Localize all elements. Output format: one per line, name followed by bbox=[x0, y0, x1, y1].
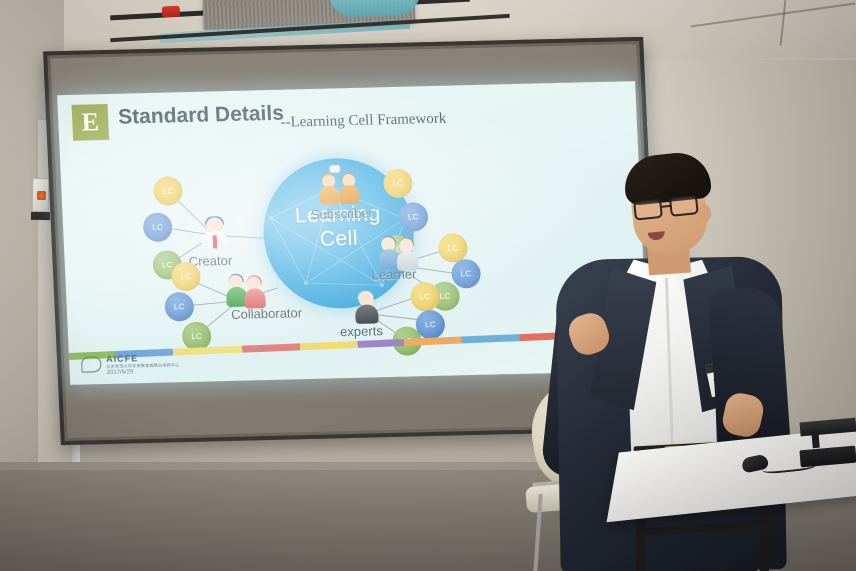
lc-text: LC bbox=[152, 223, 163, 232]
lc-text: LC bbox=[162, 260, 173, 269]
aicfe-logo: AICFE 北京师范大学未来教育高精尖创新中心 2017/6/29 bbox=[81, 352, 192, 381]
collaborator-avatar-icon-2 bbox=[242, 276, 267, 309]
lc-text: LC bbox=[174, 302, 185, 311]
red-ceiling-knob-icon bbox=[162, 6, 181, 18]
subscriber-avatar-icon-2 bbox=[337, 174, 360, 205]
experts-label: experts bbox=[340, 323, 383, 339]
speech-bubble-icon bbox=[81, 356, 102, 372]
monitor-shelf-leg bbox=[811, 430, 820, 449]
lc-text: LC bbox=[425, 320, 436, 329]
lc-text: LC bbox=[460, 269, 471, 278]
ceiling-tile-grid bbox=[690, 0, 856, 58]
presentation-room-photo: E Standard Details --Learning Cell Frame… bbox=[0, 0, 856, 571]
lc-text: LC bbox=[180, 272, 191, 281]
subscriber-tag-icon bbox=[329, 164, 341, 173]
power-led-icon bbox=[37, 191, 46, 200]
glasses-lens-left bbox=[633, 199, 663, 221]
wall-control-panel[interactable] bbox=[32, 178, 50, 212]
subscriber-label: Subscriber bbox=[310, 205, 373, 222]
experts-body bbox=[354, 304, 378, 324]
wall-panel-slot bbox=[31, 212, 50, 220]
lc-text: LC bbox=[191, 332, 202, 341]
slide-date: 2017/6/29 bbox=[107, 369, 134, 376]
creator-avatar-icon bbox=[199, 217, 231, 252]
experts-avatar-icon bbox=[352, 291, 379, 324]
lc-text: LC bbox=[419, 292, 430, 301]
lc-text: LC bbox=[447, 243, 458, 252]
lc-text: LC bbox=[408, 212, 419, 221]
lc-text: LC bbox=[392, 179, 403, 188]
lc-text: LC bbox=[439, 292, 450, 301]
glasses-lens-right bbox=[669, 195, 699, 217]
creator-tie-icon bbox=[213, 235, 218, 248]
subscriber-body-2 bbox=[339, 185, 359, 204]
slide-title: Standard Details bbox=[118, 102, 285, 130]
learner-label: Learner bbox=[371, 266, 416, 282]
lc-text: LC bbox=[162, 186, 173, 195]
collaborator-label: Collaborator bbox=[231, 305, 303, 322]
subscriber-body-1 bbox=[319, 185, 339, 204]
